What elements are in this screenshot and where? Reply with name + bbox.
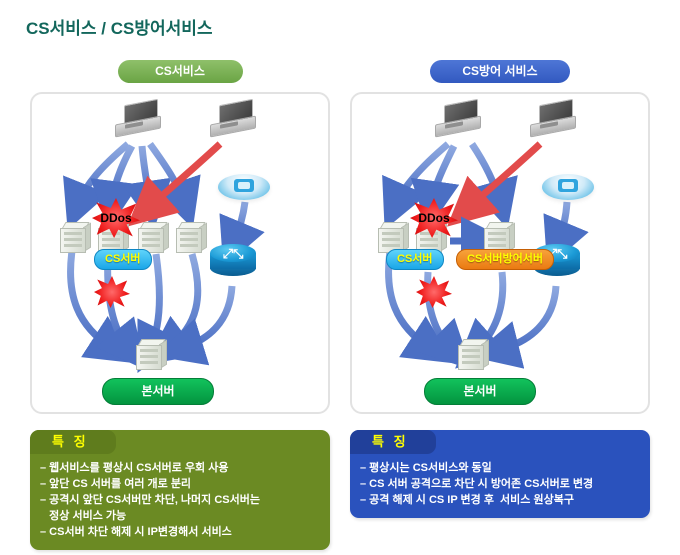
list-item: – 공격 해제 시 CS IP 변경 후 서비스 원상복구 [360,492,642,508]
cs-defense-server-badge: CS서버방어서버 [456,249,554,270]
cs-server-badge: CS서버 [386,249,444,270]
ddos-label: DDos [410,211,458,225]
ddos-label: DDos [92,211,140,225]
cs-server-badge: CS서버 [94,249,152,270]
server-rack-icon [378,222,406,252]
laptop-icon [530,102,576,132]
list-item: – 앞단 CS 서버를 여러 개로 분리 [40,476,322,492]
column-cs-service: CS서비스 [30,60,330,414]
explosion-icon: DDos [410,198,458,238]
server-rack-icon [484,222,512,252]
server-rack-icon [60,222,88,252]
cloud-icon [542,170,594,204]
router-icon: ⤢⤡ [210,244,256,278]
main-server-button[interactable]: 본서버 [102,378,214,405]
list-item: – CS 서버 공격으로 차단 시 방어존 CS서버로 변경 [360,476,642,492]
laptop-icon [435,102,481,132]
laptop-icon [210,102,256,132]
main-server-button[interactable]: 본서버 [424,378,536,405]
list-item: – 웹서비스를 평상시 CS서버로 우회 사용 [40,460,322,476]
feature-list: – 웹서비스를 평상시 CS서버로 우회 사용 – 앞단 CS 서버를 여러 개… [30,460,330,540]
explosion-icon: DDos [92,198,140,238]
laptop-icon [115,102,161,132]
diagram-panel-cs-defense-service: ⤢⤡ DDos CS서버 CS서버방어서버 본서버 [350,92,650,414]
server-rack-icon [458,339,486,369]
feature-box-cs-service: 특 징 – 웹서비스를 평상시 CS서버로 우회 사용 – 앞단 CS 서버를 … [30,430,330,550]
feature-heading: 특 징 [350,430,650,454]
diagram-arrows-left [32,94,328,412]
column-cs-defense-service: CS방어 서비스 [350,60,650,414]
diagram-panel-cs-service: ⤢⤡ DDos CS서버 본서버 [30,92,330,414]
server-rack-icon [176,222,204,252]
feature-box-wrapper-left: 특 징 – 웹서비스를 평상시 CS서버로 우회 사용 – 앞단 CS 서버를 … [30,430,330,550]
page-title: CS서비스 / CS방어서비스 [26,14,213,39]
list-item: – 평상시는 CS서비스와 동일 [360,460,642,476]
feature-list: – 평상시는 CS서비스와 동일 – CS 서버 공격으로 차단 시 방어존 C… [350,460,650,508]
list-item: – 공격시 앞단 CS서버만 차단, 나머지 CS서버는 [40,492,322,508]
list-item: – CS서버 차단 해제 시 IP변경해서 서비스 [40,524,322,540]
explosion-icon [94,276,130,308]
server-rack-icon [138,222,166,252]
list-item: 정상 서비스 가능 [40,508,322,524]
server-rack-icon [136,339,164,369]
cloud-icon [218,170,270,204]
feature-heading: 특 징 [30,430,330,454]
feature-box-wrapper-right: 특 징 – 평상시는 CS서비스와 동일 – CS 서버 공격으로 차단 시 방… [350,430,650,518]
panel-header-cs-defense-service: CS방어 서비스 [430,60,570,83]
panel-header-cs-service: CS서비스 [118,60,243,83]
explosion-icon [416,276,452,308]
feature-box-cs-defense-service: 특 징 – 평상시는 CS서비스와 동일 – CS 서버 공격으로 차단 시 방… [350,430,650,518]
